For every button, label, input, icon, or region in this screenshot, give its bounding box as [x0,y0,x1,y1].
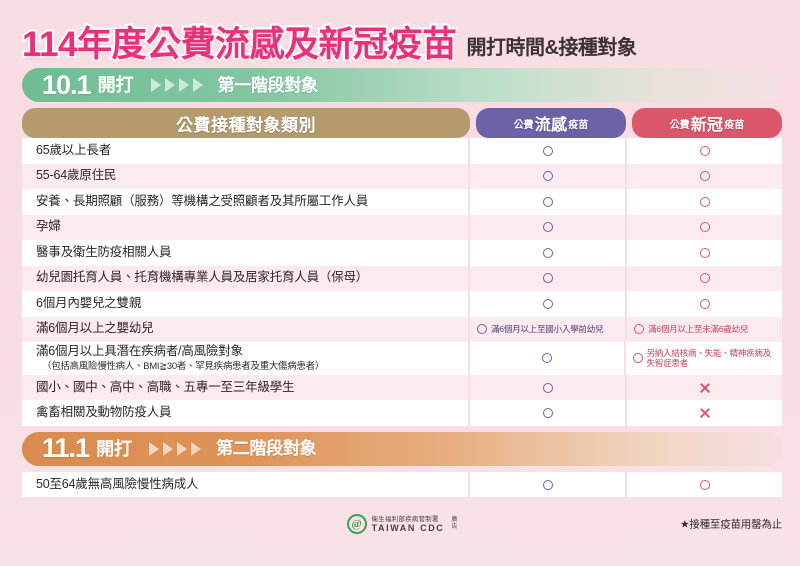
arrow-right-icon [165,78,175,92]
row-category-label: 55-64歲原住民 [36,168,460,184]
table-row: 禽畜相關及動物防疫人員 [22,400,782,426]
circle-mark-icon [634,324,644,334]
cell-flu-vaccine [470,291,627,317]
flu-header-main: 流感 [535,111,568,135]
covid-header-prefix: 公費 [670,116,690,131]
arrow-right-icon [193,78,203,92]
row-category-label: 50至64歲無高風險慢性病成人 [36,477,460,493]
cell-category: 禽畜相關及動物防疫人員 [22,400,470,426]
stage-1-date: 10.1 [42,72,91,99]
cdc-name-zh: 衛生福利部疾病管制署 [372,516,445,523]
cell-covid-vaccine [627,291,782,317]
stage-2-banner: 11.1 開打 第二階段對象 [22,432,782,466]
circle-mark-icon [543,171,553,181]
page-header: 114年度公費流感及新冠疫苗 開打時間&接種對象 [0,0,800,62]
covid-header-suffix: 疫苗 [724,116,744,131]
circle-mark-icon [700,171,710,181]
circle-mark-icon [477,324,487,334]
circle-mark-icon [543,146,553,156]
column-header-category: 公費接種對象類別 [22,108,470,138]
row-category-label: 禽畜相關及動物防疫人員 [36,405,460,421]
cell-category: 孕婦 [22,215,470,241]
column-header-covid-vaccine: 公費 新冠 疫苗 [632,108,782,138]
row-category-label: 安養、長期照顧（服務）等機構之受照顧者及其所屬工作人員 [36,194,460,210]
stage-2-label: 第二階段對象 [216,440,316,457]
cell-flu-vaccine [470,138,627,164]
cell-category: 醫事及衛生防疫相關人員 [22,240,470,266]
cell-covid-vaccine [627,266,782,292]
cell-category: 50至64歲無高風險慢性病成人 [22,472,470,498]
cell-category: 國小、國中、高中、高職、五專一至三年級學生 [22,375,470,401]
stage-1-label: 第一階段對象 [218,77,318,94]
table-row: 醫事及衛生防疫相關人員 [22,240,782,266]
cell-flu-vaccine [470,342,626,375]
table-row: 65歲以上長者 [22,138,782,164]
cell-flu-vaccine [470,215,627,241]
arrow-group-icon [149,442,201,456]
cell-covid-vaccine [627,189,782,215]
row-category-label: 孕婦 [36,219,460,235]
circle-mark-icon [543,408,553,418]
advertisement-label: 廣 告 [451,517,457,531]
row-category-label: 65歲以上長者 [36,143,460,159]
table-header-row: 公費接種對象類別 公費 流感 疫苗 公費 新冠 疫苗 [22,108,782,138]
cell-category: 55-64歲原住民 [22,164,470,190]
row-category-label: 幼兒園托育人員、托育機構專業人員及居家托育人員（保母） [36,270,460,286]
cell-flu-vaccine [470,375,627,401]
cell-category: 幼兒園托育人員、托育機構專業人員及居家托育人員（保母） [22,266,470,292]
cell-category: 滿6個月以上之嬰幼兒 [22,317,470,343]
table-row: 安養、長期照顧（服務）等機構之受照顧者及其所屬工作人員 [22,189,782,215]
covid-note-text: 滿6個月以上至未滿6歲幼兒 [648,324,748,335]
cell-flu-vaccine [470,240,627,266]
circle-mark-icon [543,197,553,207]
flu-header-suffix: 疫苗 [568,116,588,131]
table-row: 6個月內嬰兒之雙親 [22,291,782,317]
circle-mark-icon [700,222,710,232]
table-body-stage-1: 65歲以上長者55-64歲原住民安養、長期照顧（服務）等機構之受照顧者及其所屬工… [22,138,782,426]
table-row: 50至64歲無高風險慢性病成人 [22,472,782,498]
cell-flu-vaccine [470,400,627,426]
arrow-right-icon [191,442,201,456]
stage-2-open-label: 開打 [96,440,132,458]
arrow-right-icon [177,442,187,456]
row-category-label: 醫事及衛生防疫相關人員 [36,245,460,261]
cell-category: 65歲以上長者 [22,138,470,164]
circle-mark-icon [543,480,553,490]
flu-header-prefix: 公費 [514,116,534,131]
cell-covid-vaccine [627,215,782,241]
row-category-label: 滿6個月以上之嬰幼兒 [36,321,460,337]
page-title: 114年度公費流感及新冠疫苗 [22,27,456,62]
cell-covid-vaccine: 滿6個月以上至未滿6歲幼兒 [627,317,782,343]
stage-2-date: 11.1 [42,435,89,462]
circle-mark-icon [543,273,553,283]
cell-flu-vaccine [470,164,627,190]
circle-mark-icon [700,248,710,258]
table-row: 國小、國中、高中、高職、五專一至三年級學生 [22,375,782,401]
circle-mark-icon [542,353,552,363]
row-category-label: 滿6個月以上具潛在疾病者/高風險對象 [36,344,460,360]
circle-mark-icon [700,197,710,207]
cell-covid-vaccine [627,164,782,190]
circle-mark-icon [543,299,553,309]
page-footer: @ 衛生福利部疾病管制署 TAIWAN CDC 廣 告 ★接種至疫苗用罄為止 [22,506,782,542]
cdc-name-en: TAIWAN CDC [372,523,445,533]
row-subtext: （包括高風險慢性病人、BMI≧30者、罕見疾病患者及重大傷病患者） [36,361,460,373]
arrow-right-icon [163,442,173,456]
cell-category: 6個月內嬰兒之雙親 [22,291,470,317]
cell-covid-vaccine [627,138,782,164]
table-row: 55-64歲原住民 [22,164,782,190]
flu-note-text: 滿6個月以上至國小入學前幼兒 [491,324,603,335]
circle-mark-icon [700,273,710,283]
column-header-flu-vaccine: 公費 流感 疫苗 [476,108,626,138]
row-category-label: 國小、國中、高中、高職、五專一至三年級學生 [36,380,460,396]
circle-mark-icon [633,353,643,363]
cell-category: 安養、長期照顧（服務）等機構之受照顧者及其所屬工作人員 [22,189,470,215]
cross-mark-icon [699,382,711,394]
circle-mark-icon [543,383,553,393]
covid-note-text: 另納入結核病、失能、精神疾病及失智症患者 [647,348,779,369]
circle-mark-icon [543,222,553,232]
arrow-right-icon [179,78,189,92]
table-row: 幼兒園托育人員、托育機構專業人員及居家托育人員（保母） [22,266,782,292]
covid-header-main: 新冠 [691,111,724,135]
arrow-right-icon [151,78,161,92]
stage-1-open-label: 開打 [98,76,134,94]
circle-mark-icon [700,299,710,309]
cell-covid-vaccine [627,472,782,498]
vaccine-table-stage-2: 50至64歲無高風險慢性病成人 [22,472,782,498]
circle-mark-icon [543,248,553,258]
circle-mark-icon [700,480,710,490]
cell-covid-vaccine: 另納入結核病、失能、精神疾病及失智症患者 [626,342,783,375]
cdc-logo: @ 衛生福利部疾病管制署 TAIWAN CDC 廣 告 [347,514,458,534]
cell-flu-vaccine: 滿6個月以上至國小入學前幼兒 [470,317,627,343]
vaccine-table-stage-1: 公費接種對象類別 公費 流感 疫苗 公費 新冠 疫苗 65歲以上長者55-64歲… [22,108,782,426]
cell-covid-vaccine [627,375,782,401]
circle-mark-icon [700,146,710,156]
arrow-right-icon [149,442,159,456]
cell-category: 滿6個月以上具潛在疾病者/高風險對象（包括高風險慢性病人、BMI≧30者、罕見疾… [22,342,470,375]
row-category-label: 6個月內嬰兒之雙親 [36,296,460,312]
cell-flu-vaccine [470,472,627,498]
table-body-stage-2: 50至64歲無高風險慢性病成人 [22,472,782,498]
cross-mark-icon [699,407,711,419]
arrow-group-icon [151,78,203,92]
table-row: 滿6個月以上具潛在疾病者/高風險對象（包括高風險慢性病人、BMI≧30者、罕見疾… [22,342,782,375]
cell-flu-vaccine [470,189,627,215]
page-subtitle: 開打時間&接種對象 [466,38,636,62]
cell-flu-vaccine [470,266,627,292]
cell-covid-vaccine [627,400,782,426]
table-row: 滿6個月以上之嬰幼兒滿6個月以上至國小入學前幼兒滿6個月以上至未滿6歲幼兒 [22,317,782,343]
stage-1-banner: 10.1 開打 第一階段對象 [22,68,782,102]
footnote: ★接種至疫苗用罄為止 [680,517,782,532]
table-row: 孕婦 [22,215,782,241]
ad-char-2: 告 [451,524,457,531]
cell-covid-vaccine [627,240,782,266]
cdc-emblem-icon: @ [347,514,367,534]
